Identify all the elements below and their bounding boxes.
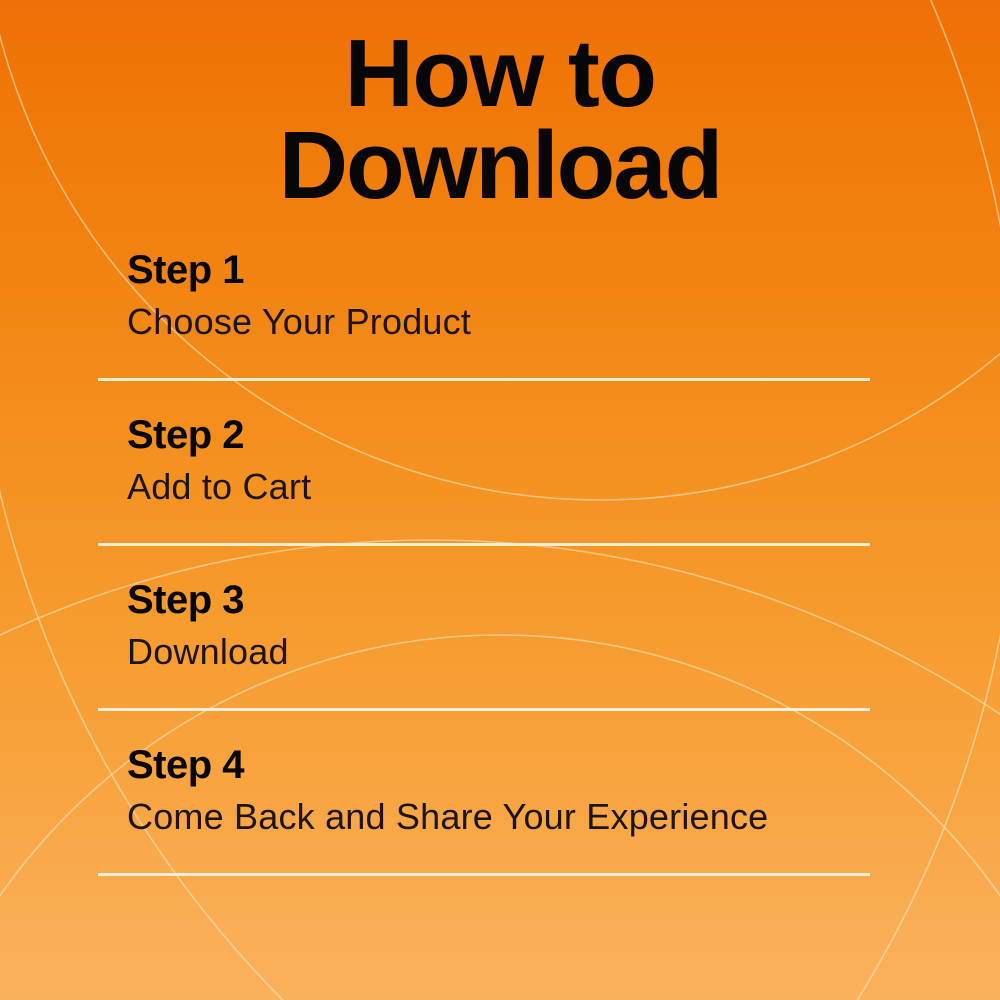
step-item-3: Step 3 Download bbox=[0, 570, 1000, 735]
step-description-2: Add to Cart bbox=[127, 469, 311, 505]
step-divider-4 bbox=[98, 873, 870, 876]
page-title: How to Download bbox=[0, 28, 1000, 212]
step-description-4: Come Back and Share Your Experience bbox=[127, 799, 768, 835]
steps-list: Step 1 Choose Your Product Step 2 Add to… bbox=[0, 240, 1000, 900]
step-label-1: Step 1 bbox=[127, 250, 244, 290]
page-title-line-1: How to bbox=[0, 28, 1000, 120]
step-description-3: Download bbox=[127, 634, 289, 670]
step-divider-3 bbox=[98, 708, 870, 711]
step-description-1: Choose Your Product bbox=[127, 304, 471, 340]
step-divider-2 bbox=[98, 543, 870, 546]
step-item-1: Step 1 Choose Your Product bbox=[0, 240, 1000, 405]
step-label-3: Step 3 bbox=[127, 580, 244, 620]
step-label-4: Step 4 bbox=[127, 745, 244, 785]
page-title-line-2: Download bbox=[0, 120, 1000, 212]
step-divider-1 bbox=[98, 378, 870, 381]
step-label-2: Step 2 bbox=[127, 415, 244, 455]
step-item-2: Step 2 Add to Cart bbox=[0, 405, 1000, 570]
step-item-4: Step 4 Come Back and Share Your Experien… bbox=[0, 735, 1000, 900]
how-to-download-card: How to Download Step 1 Choose Your Produ… bbox=[0, 0, 1000, 1000]
